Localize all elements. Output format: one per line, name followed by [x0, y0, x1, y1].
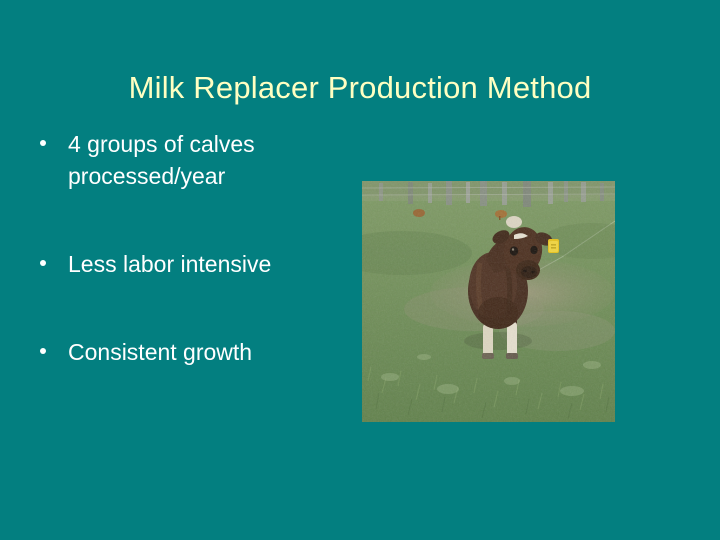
bullet-dot-icon [40, 140, 46, 146]
page-title: Milk Replacer Production Method [0, 69, 720, 107]
calf-pasture-photo [362, 181, 615, 422]
bullet-dot-icon [40, 260, 46, 266]
list-item: Less labor intensive [36, 248, 356, 280]
slide-canvas: Milk Replacer Production Method 4 groups… [0, 0, 720, 540]
bullet-list: 4 groups of calves processed/year Less l… [36, 128, 356, 368]
list-item: Consistent growth [36, 336, 356, 368]
bullet-item-label: 4 groups of calves processed/year [68, 128, 356, 192]
list-item: 4 groups of calves processed/year [36, 128, 356, 192]
bullet-item-label: Less labor intensive [68, 248, 356, 280]
bullet-dot-icon [40, 348, 46, 354]
bullet-item-label: Consistent growth [68, 336, 356, 368]
